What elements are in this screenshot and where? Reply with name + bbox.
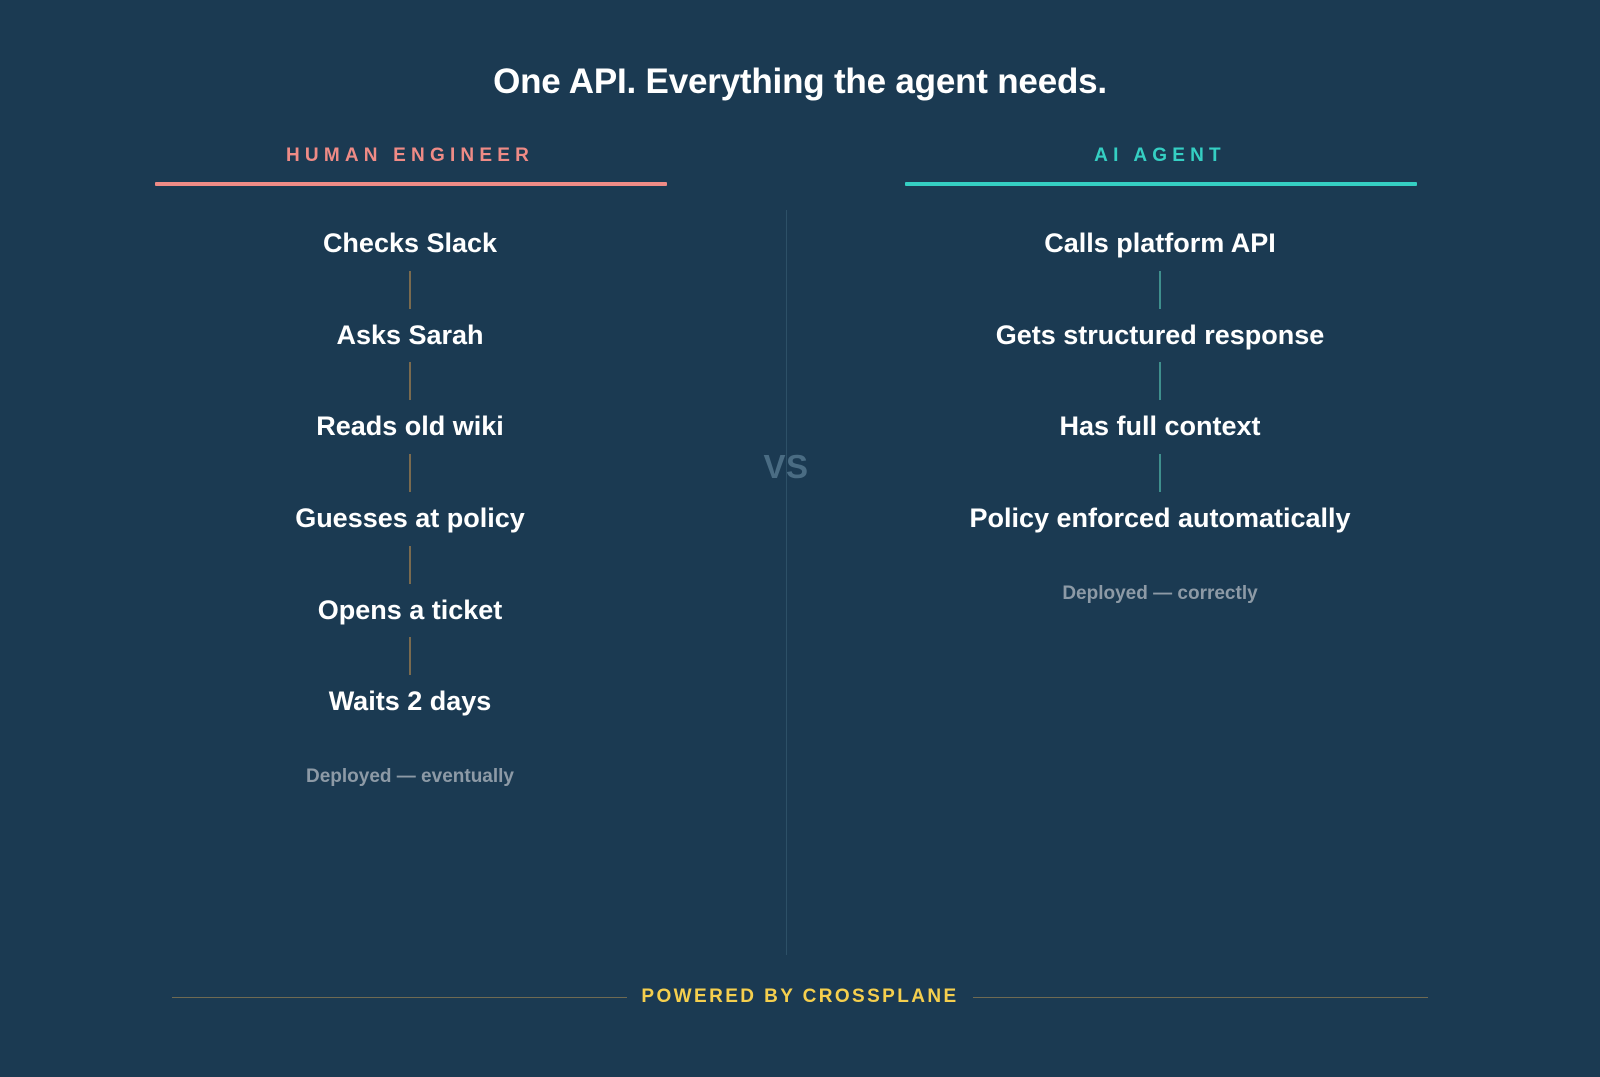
step-connector [409, 546, 411, 584]
footer-text: POWERED BY CROSSPLANE [627, 986, 972, 1008]
step-label: Calls platform API [1044, 229, 1276, 259]
step-list-ai-agent: Calls platform APIGets structured respon… [830, 229, 1490, 534]
column-rule-ai-agent [905, 182, 1417, 186]
step-label: Gets structured response [996, 321, 1325, 351]
step-label: Policy enforced automatically [969, 504, 1350, 534]
step-connector [1159, 271, 1161, 309]
center-divider [786, 210, 787, 955]
vs-label: VS [736, 448, 836, 486]
page-title: One API. Everything the agent needs. [0, 62, 1600, 102]
column-header-human-engineer: HUMAN ENGINEER [80, 145, 740, 167]
step-label: Opens a ticket [318, 596, 503, 626]
footer-rule-left [172, 997, 627, 998]
step-list-human-engineer: Checks SlackAsks SarahReads old wikiGues… [80, 229, 740, 717]
step-label: Reads old wiki [316, 412, 504, 442]
step-connector [409, 362, 411, 400]
footer: POWERED BY CROSSPLANE [0, 986, 1600, 1008]
column-rule-human-engineer [155, 182, 667, 186]
step-label: Has full context [1059, 412, 1260, 442]
step-label: Waits 2 days [329, 687, 492, 717]
slide-canvas: One API. Everything the agent needs. VS … [0, 0, 1600, 1077]
column-header-ai-agent: AI AGENT [830, 145, 1490, 167]
outcome-note-ai-agent: Deployed — correctly [830, 583, 1490, 605]
step-connector [409, 637, 411, 675]
step-connector [409, 454, 411, 492]
step-label: Asks Sarah [336, 321, 483, 351]
column-human-engineer: HUMAN ENGINEER Checks SlackAsks SarahRea… [80, 145, 740, 788]
footer-rule-right [973, 997, 1428, 998]
step-connector [1159, 454, 1161, 492]
step-label: Checks Slack [323, 229, 497, 259]
column-ai-agent: AI AGENT Calls platform APIGets structur… [830, 145, 1490, 605]
step-label: Guesses at policy [295, 504, 525, 534]
outcome-note-human-engineer: Deployed — eventually [80, 766, 740, 788]
step-connector [1159, 362, 1161, 400]
step-connector [409, 271, 411, 309]
